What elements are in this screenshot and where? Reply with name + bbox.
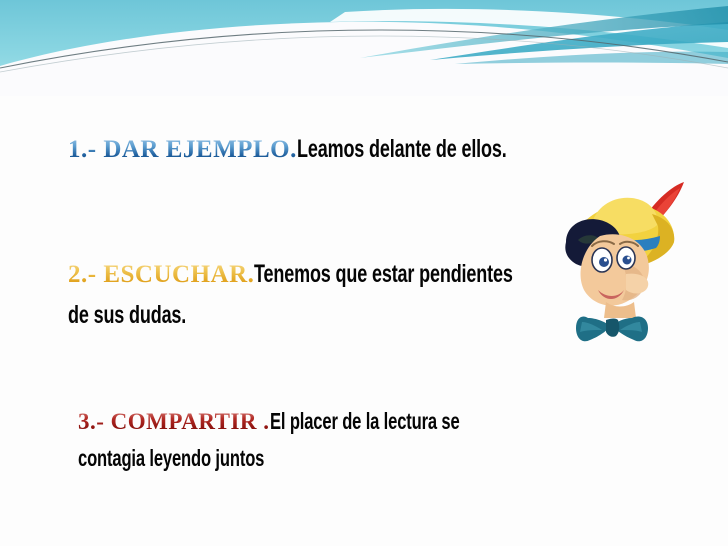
bullet-2-body-line-1: Tenemos que estar pendientes (254, 252, 513, 296)
bullet-item-3: 3.- COMPARTIR .El placer de la lectura s… (78, 400, 728, 479)
slide-canvas: 1.- DAR EJEMPLO.Leamos delante de ellos.… (0, 0, 728, 546)
bullet-2-heading: 2.- ESCUCHAR. (68, 261, 254, 288)
bullet-item-1: 1.- DAR EJEMPLO.Leamos delante de ellos. (68, 134, 588, 165)
wave-graphic (0, 0, 728, 96)
bullet-1-body-line-1: Leamos delante de ellos. (297, 134, 507, 164)
bullet-2-body-line-2: de sus dudas. (68, 293, 186, 337)
slide-content: 1.- DAR EJEMPLO.Leamos delante de ellos.… (0, 96, 728, 546)
bullet-3-heading: 3.- COMPARTIR . (78, 409, 270, 434)
bullet-1-heading: 1.- DAR EJEMPLO. (68, 136, 297, 163)
decorative-wave-banner (0, 0, 728, 96)
bullet-item-2: 2.- ESCUCHAR.Tenemos que estar pendiente… (68, 252, 728, 337)
bullet-3-body-line-1: El placer de la lectura se (270, 400, 460, 442)
bullet-3-body-line-2: contagia leyendo juntos (78, 437, 264, 479)
